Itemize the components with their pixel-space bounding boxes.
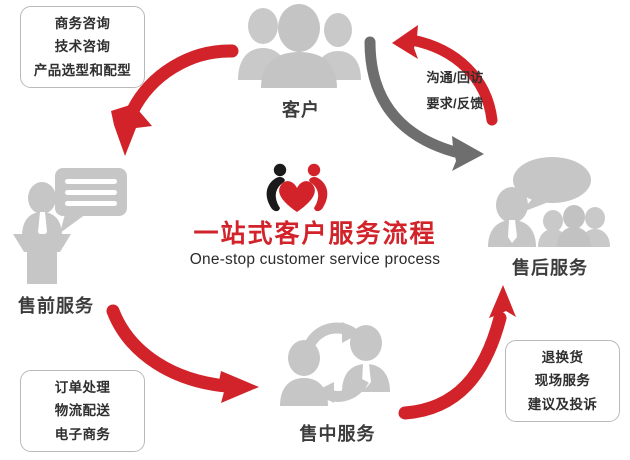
note-line: 电子商务 [55, 423, 111, 446]
center-title: 一站式客户服务流程 [155, 214, 475, 250]
note-line: 订单处理 [55, 376, 111, 399]
node-label-customer: 客户 [265, 96, 337, 122]
diagram-canvas: 商务咨询 技术咨询 产品选型和配型 订单处理 物流配送 电子商务 退换货 现场服… [0, 0, 630, 460]
note-line: 产品选型和配型 [34, 59, 131, 82]
node-label-after-sales: 售后服务 [495, 254, 605, 280]
node-label-in-sales: 售中服务 [290, 420, 385, 446]
three-people-group-icon [233, 0, 368, 90]
arrow-label-communication: 沟通/回访 [410, 67, 500, 86]
note-line: 退换货 [542, 346, 584, 369]
note-line: 建议及投诉 [528, 393, 598, 416]
arrow-in-sales-to-after-sales [405, 285, 516, 413]
arrow-label-feedback: 要求/反馈 [410, 93, 500, 112]
note-box-in-sales: 订单处理 物流配送 电子商务 [20, 370, 145, 452]
note-line: 物流配送 [55, 399, 111, 422]
presenter-podium-speech-bubble-icon [10, 160, 135, 285]
note-box-pre-sales: 商务咨询 技术咨询 产品选型和配型 [20, 6, 145, 88]
node-label-pre-sales: 售前服务 [18, 292, 123, 318]
agent-speech-bubble-group-icon [480, 155, 620, 250]
two-people-exchange-arrows-icon [278, 318, 396, 410]
note-box-after-sales: 退换货 现场服务 建议及投诉 [505, 340, 620, 422]
note-line: 现场服务 [535, 369, 591, 392]
center-subtitle: One-stop customer service process [155, 251, 475, 269]
heart-people-logo [262, 162, 332, 214]
note-line: 技术咨询 [55, 35, 111, 58]
note-line: 商务咨询 [55, 12, 111, 35]
